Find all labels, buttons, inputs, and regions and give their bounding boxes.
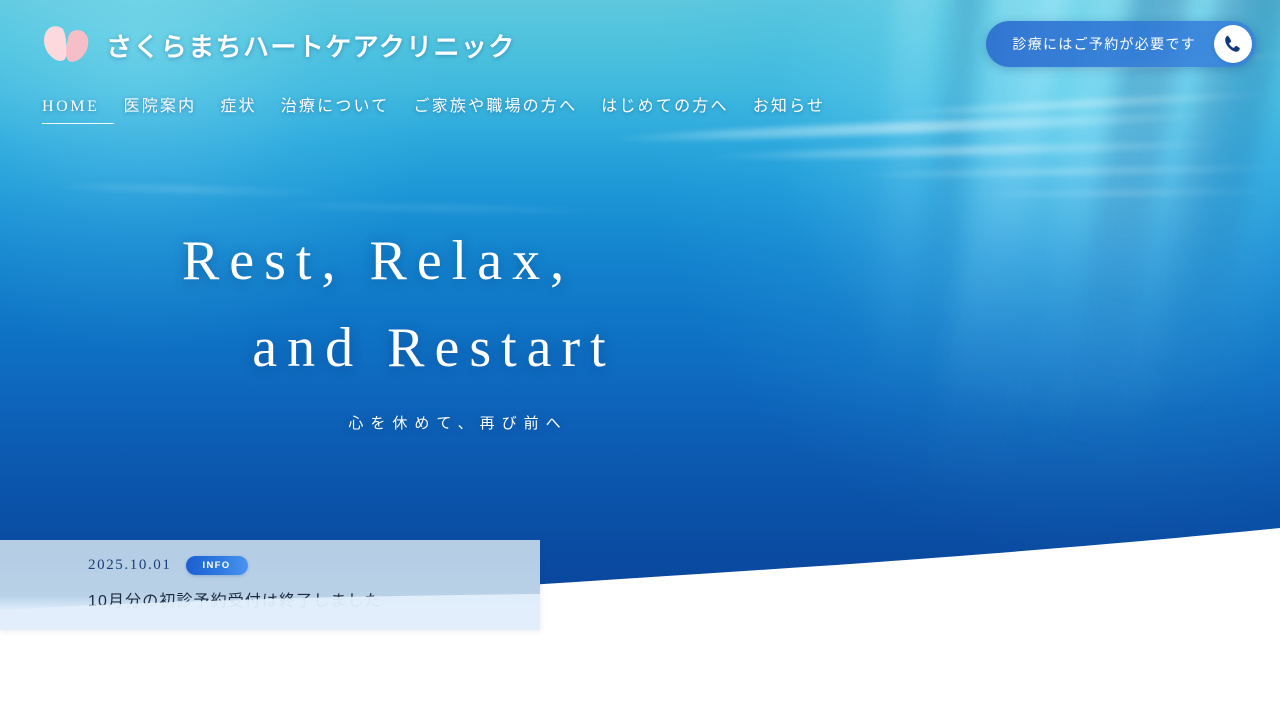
nav-item-family[interactable]: ご家族や職場の方へ — [413, 92, 591, 124]
nav-item-about[interactable]: 医院案内 — [124, 92, 211, 124]
ripple-line — [960, 188, 1280, 197]
site-header: さくらまちハートケアクリニック HOME 医院案内 症状 治療について ご家族や… — [0, 0, 1280, 130]
ripple-line — [40, 182, 340, 197]
nav-item-first-time[interactable]: はじめての方へ — [601, 92, 742, 124]
brand-logo[interactable]: さくらまちハートケアクリニック — [40, 22, 516, 68]
nav-item-symptoms[interactable]: 症状 — [220, 92, 270, 124]
sakura-petals-icon — [40, 22, 92, 68]
nav-item-news[interactable]: お知らせ — [753, 92, 839, 124]
nav-item-treatment[interactable]: 治療について — [281, 92, 404, 124]
reservation-button[interactable]: 診療にはご予約が必要です — [986, 21, 1256, 67]
news-date: 2025.10.01 — [88, 557, 172, 574]
news-meta-row: 2025.10.01 INFO — [88, 556, 248, 575]
ripple-line — [840, 164, 1280, 179]
brand-name: さくらまちハートケアクリニック — [106, 27, 516, 64]
news-headline[interactable]: 10月分の初診予約受付は終了しました — [88, 587, 382, 611]
primary-navigation: HOME 医院案内 症状 治療について ご家族や職場の方へ はじめての方へ お知… — [42, 92, 849, 124]
news-category-badge: INFO — [186, 556, 248, 575]
ripple-line — [260, 202, 620, 214]
ripple-line — [700, 139, 1240, 161]
nav-item-home[interactable]: HOME — [42, 98, 114, 124]
news-card[interactable]: 2025.10.01 INFO 10月分の初診予約受付は終了しました — [0, 540, 540, 630]
reservation-label: 診療にはご予約が必要です — [1012, 34, 1196, 54]
phone-icon[interactable] — [1214, 25, 1252, 63]
